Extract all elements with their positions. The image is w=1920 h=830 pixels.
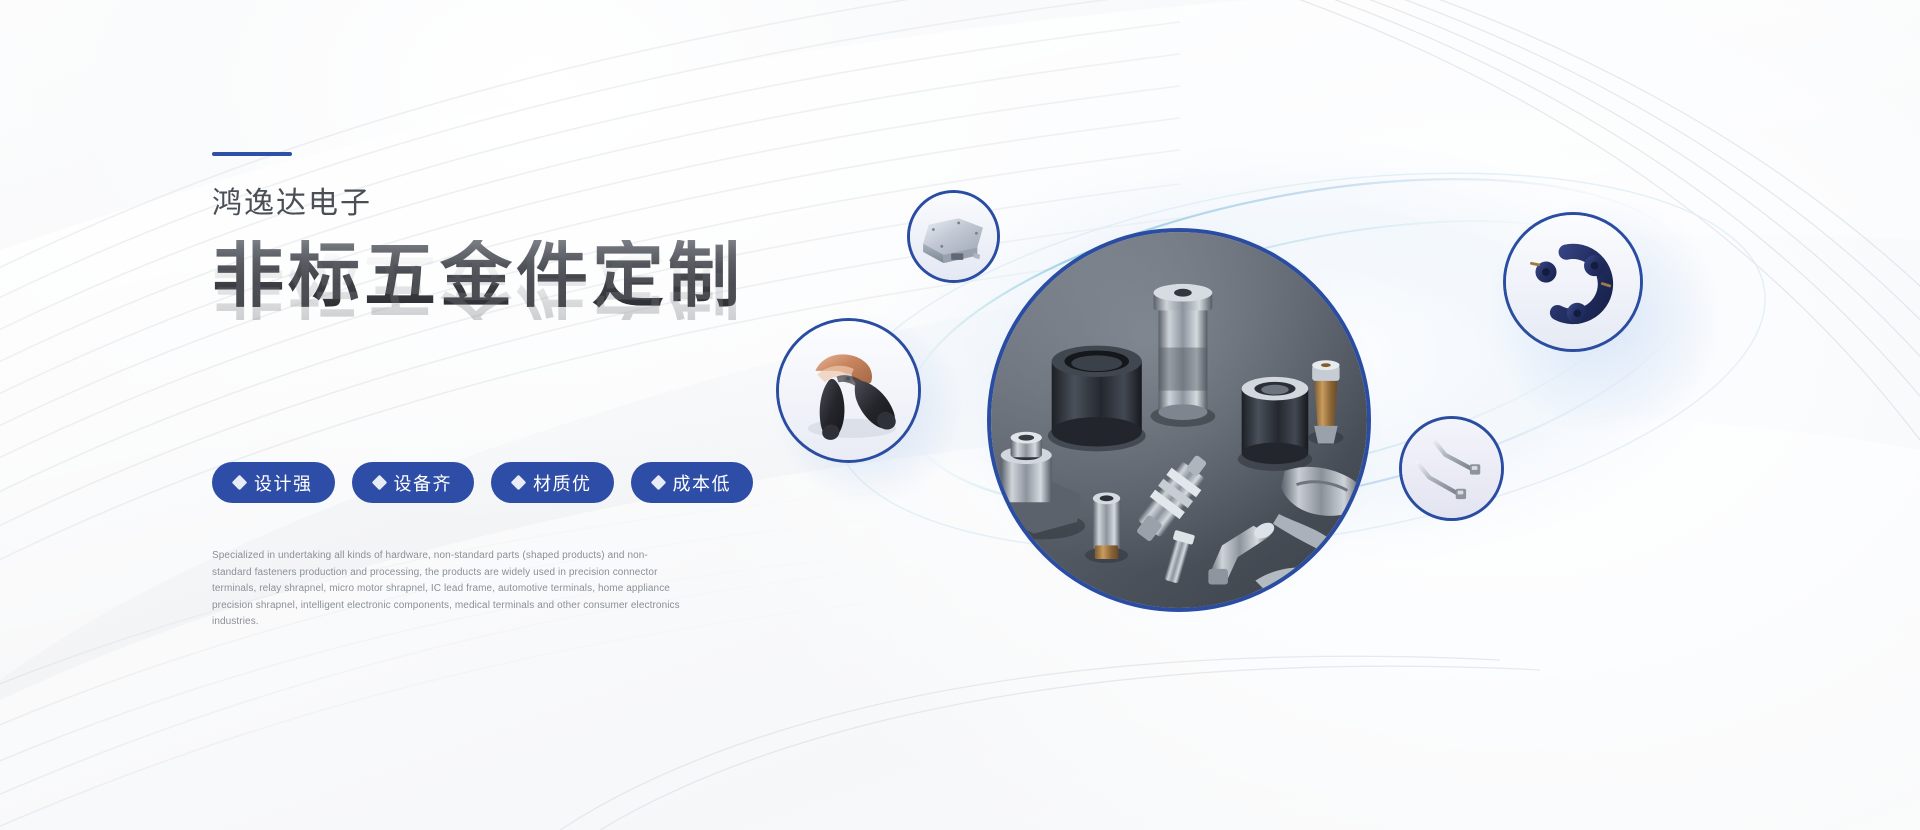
diamond-icon (650, 475, 666, 491)
feature-tag-design[interactable]: 设计强 (212, 462, 335, 503)
feature-tag-equipment[interactable]: 设备齐 (352, 462, 475, 503)
feature-tag-material[interactable]: 材质优 (491, 462, 614, 503)
hero-text-column: 鸿逸达电子 非标五金件定制 非标五金件定制 (212, 152, 832, 390)
accent-bar (212, 152, 292, 156)
product-bubble-precision-hardware-set[interactable] (987, 228, 1371, 612)
product-bubble-battery-clamp[interactable] (776, 318, 921, 463)
product-visual-group (740, 140, 1870, 560)
page-title: 非标五金件定制 (212, 240, 832, 312)
bent-terminal-pins-image (1402, 419, 1501, 518)
feature-tag-label: 材质优 (533, 470, 592, 496)
retaining-ring-image (1506, 215, 1640, 349)
feature-tag-label: 成本低 (673, 470, 732, 496)
company-description: Specialized in undertaking all kinds of … (212, 548, 682, 631)
diamond-icon (232, 475, 248, 491)
headline-wrap: 非标五金件定制 非标五金件定制 (212, 240, 832, 390)
brand-name: 鸿逸达电子 (212, 186, 832, 222)
precision-hardware-set-image (991, 232, 1367, 608)
hero-banner: 鸿逸达电子 非标五金件定制 非标五金件定制 设计强 设备齐 材质优 成本低 Sp… (0, 0, 1920, 830)
battery-clamp-image (779, 321, 918, 460)
product-bubble-retaining-ring[interactable] (1503, 212, 1643, 352)
diamond-icon (511, 475, 527, 491)
feature-tag-cost[interactable]: 成本低 (631, 462, 754, 503)
feature-tag-label: 设计强 (254, 470, 313, 496)
feature-tag-row: 设计强 设备齐 材质优 成本低 (212, 462, 753, 503)
product-bubble-metal-enclosure-box[interactable] (907, 190, 1000, 283)
product-bubble-bent-terminal-pins[interactable] (1399, 416, 1504, 521)
diamond-icon (371, 475, 387, 491)
feature-tag-label: 设备齐 (394, 470, 453, 496)
metal-enclosure-box-image (910, 193, 997, 280)
